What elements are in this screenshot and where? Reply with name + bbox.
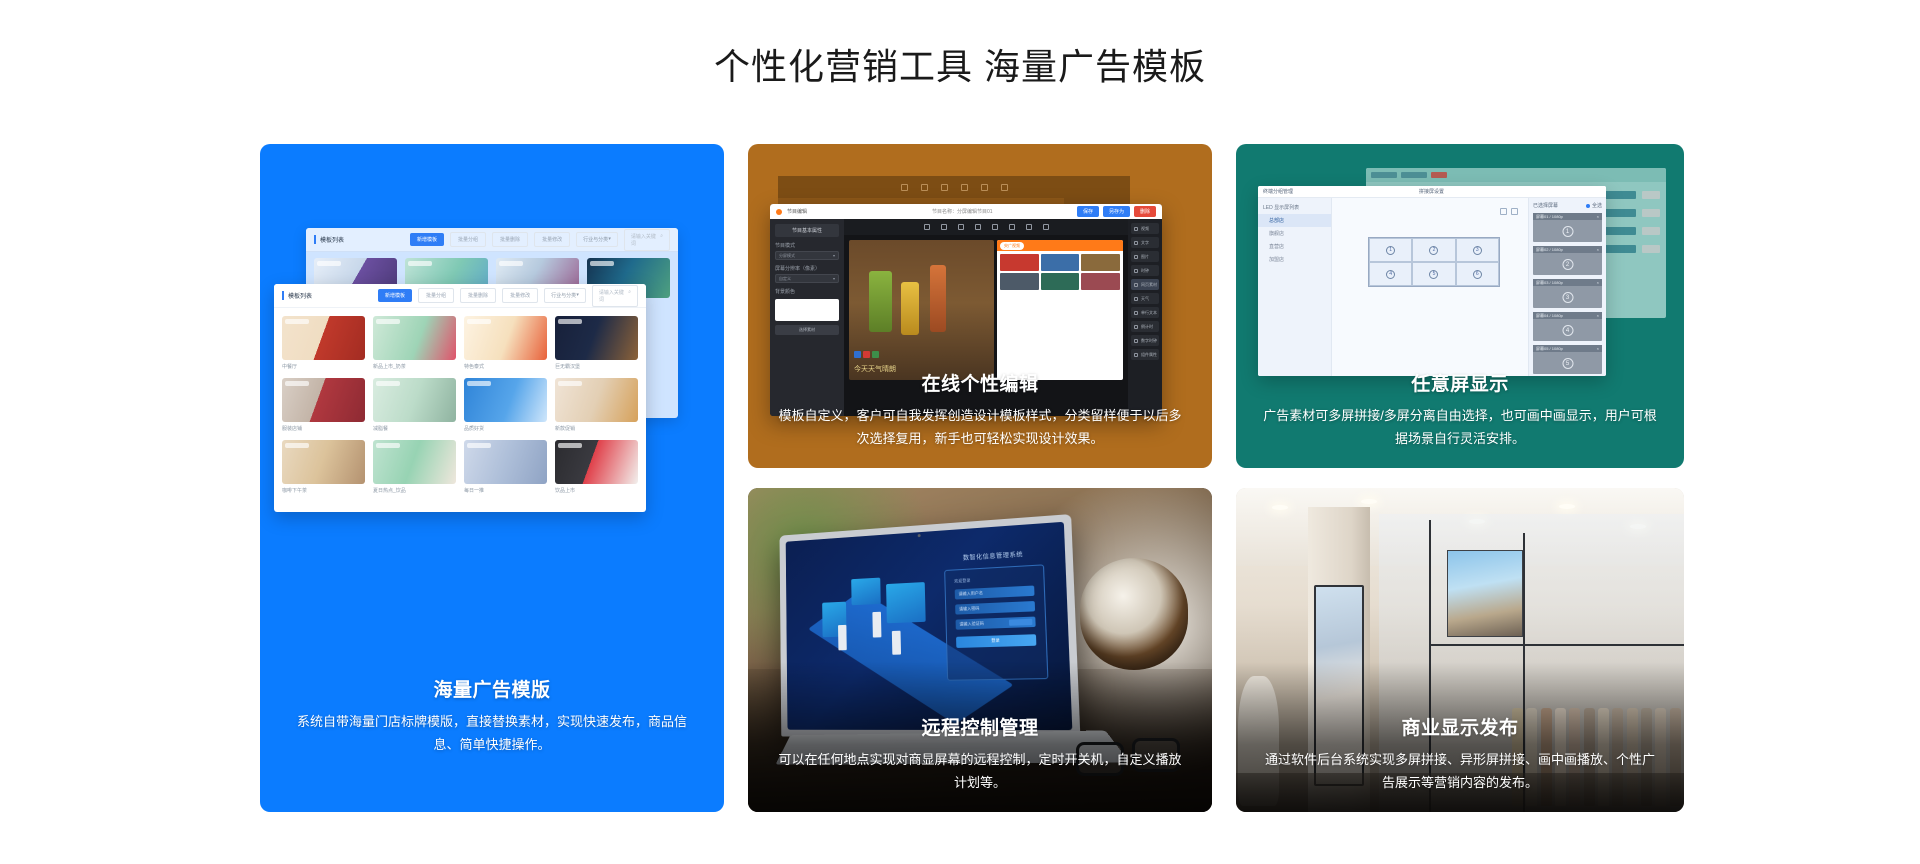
cell-number: 6 [1473, 270, 1482, 279]
template-caption: 特色泰式 [464, 363, 547, 370]
grid-icon[interactable] [1043, 224, 1049, 230]
field-label: 背景颜色 [775, 288, 839, 295]
template-caption: 新款促销 [555, 425, 638, 432]
image-icon [1134, 255, 1138, 259]
category-select-back[interactable]: 行业与分类▾ [576, 232, 618, 247]
app-name: 节目编辑 [787, 208, 807, 215]
card-mass-templates[interactable]: 模板列表 新增模板 批量分组 批量删除 批量修改 行业与分类▾ 请输入关键词⌕ [260, 144, 724, 812]
web-icon [1134, 283, 1138, 287]
template-thumb [555, 316, 638, 360]
card-caption-any-screen: 任意屏显示 广告素材可多屏拼接/多屏分离自由选择，也可画中画显示，用户可根据场景… [1236, 369, 1684, 450]
web-tile [1041, 273, 1080, 290]
template-gallery-front-panel: 模板列表 新增模板 批量分组 批量删除 批量修改 行业与分类▾ 请输入关键词⌕ … [274, 284, 646, 512]
clock-icon [1134, 269, 1138, 273]
weather-icon [1134, 297, 1138, 301]
card-title: 在线个性编辑 [748, 369, 1212, 396]
video-preview[interactable]: 今天天气晴朗 [849, 240, 994, 380]
template-thumb [555, 378, 638, 422]
screen-item[interactable]: 屏幕03 / 1080p×3 [1533, 279, 1602, 308]
chevron-down-icon: ▾ [833, 276, 835, 281]
selected-screens-panel: 已选择屏幕 全选 屏幕01 / 1080p×1 屏幕02 / 1080p×2 屏… [1528, 198, 1606, 376]
save-button[interactable]: 保存 [1077, 206, 1099, 217]
front-body: LED 显示屏列表 总部店 旗舰店 直营店 加盟店 1 2 [1258, 198, 1606, 376]
select-icon[interactable] [924, 224, 930, 230]
template-card[interactable]: 服装店铺 [282, 378, 365, 432]
template-thumb [555, 440, 638, 484]
card-desc: 广告素材可多屏拼接/多屏分离自由选择，也可画中画显示，用户可根据场景自行灵活安排… [1236, 405, 1684, 450]
search-icon: ⌕ [628, 289, 631, 303]
crop-icon [961, 184, 968, 191]
screen-item-bar: 屏幕03 / 1080p× [1533, 279, 1602, 286]
chevron-down-icon: ▾ [608, 236, 611, 243]
field-label: 屏幕分辨率（像素） [775, 265, 839, 272]
template-thumb [464, 316, 547, 360]
card-online-edit[interactable]: 视频 文字 图片 时钟 节目编辑 节目名称：分屏编辑节目01 保存 另存为 删除 [748, 144, 1212, 468]
card-caption-online-edit: 在线个性编辑 模板自定义，客户可自我发挥创造设计模板样式，分类留样便于以后多次选… [748, 369, 1212, 450]
gallery-toolbar-back: 模板列表 新增模板 批量分组 批量删除 批量修改 行业与分类▾ 请输入关键词⌕ [306, 228, 678, 252]
screen-layout-front-window: 终端分组管理 拼接屏设置 LED 显示屏列表 总部店 旗舰店 直营店 加盟店 [1258, 186, 1606, 376]
matrix-cell[interactable]: 1 [1369, 238, 1412, 262]
chevron-down-icon: ▾ [576, 292, 579, 299]
card-remote-control[interactable]: 数智化信息管理系统 欢迎登录 请输入用户名 请输入密码 请输入验证码 登录 [748, 488, 1212, 812]
card-desc: 系统自带海量门店标牌模版，直接替换素材，实现快速发布，商品信息、简单快捷操作。 [260, 711, 724, 756]
screen-item[interactable]: 屏幕01 / 1080p×1 [1533, 213, 1602, 242]
search-input-back[interactable]: 请输入关键词⌕ [624, 229, 670, 251]
star-icon [921, 184, 928, 191]
login-title: 数智化信息管理系统 [943, 548, 1043, 563]
card-title: 远程控制管理 [748, 713, 1212, 740]
template-thumb [373, 440, 456, 484]
screen-item[interactable]: 屏幕02 / 1080p×2 [1533, 246, 1602, 275]
gallery-title: 模板列表 [282, 291, 312, 300]
sidebar-item[interactable]: 加盟店 [1258, 253, 1331, 266]
iso-panel [886, 583, 926, 624]
star-icon[interactable] [941, 224, 947, 230]
iso-person [838, 625, 846, 650]
card-desc: 可以在任何地点实现对商显屏幕的远程控制，定时开关机，自定义播放计划等。 [748, 749, 1212, 794]
web-tile [1000, 273, 1039, 290]
radio-icon [1586, 204, 1590, 208]
close-icon[interactable]: × [1597, 346, 1599, 351]
page-title: 个性化营销工具 海量广告模板 [0, 0, 1920, 91]
screen-number: 3 [1562, 292, 1573, 303]
template-card[interactable]: 中餐厅 [282, 316, 365, 370]
close-icon[interactable]: × [1597, 313, 1599, 318]
template-thumb [373, 316, 456, 360]
template-caption: 品质好货 [464, 425, 547, 432]
template-caption: 服装店铺 [282, 425, 365, 432]
layers-icon [981, 184, 988, 191]
add-template-button[interactable]: 新增模板 [378, 289, 412, 302]
component-item: 倒计时 [1131, 321, 1159, 332]
feature-card-grid: 模板列表 新增模板 批量分组 批量删除 批量修改 行业与分类▾ 请输入关键词⌕ [260, 144, 1660, 812]
screen-item[interactable]: 屏幕04 / 1080p×4 [1533, 312, 1602, 341]
text-icon[interactable] [958, 224, 964, 230]
matrix-cell[interactable]: 2 [1412, 238, 1455, 262]
choose-material-button[interactable]: 选择素材 [775, 325, 839, 335]
sidebar-head: LED 显示屏列表 [1258, 201, 1331, 214]
search-icon: ⌕ [660, 233, 663, 247]
template-card[interactable]: 特色泰式 [464, 316, 547, 370]
matrix-cell[interactable]: 3 [1456, 238, 1499, 262]
template-caption: 饮品上市 [555, 487, 638, 494]
batch-delete-button-back[interactable]: 批量删除 [492, 232, 528, 247]
screen-item-bar: 屏幕05 / 1080p× [1533, 345, 1602, 352]
card-caption-remote-control: 远程控制管理 可以在任何地点实现对商显屏幕的远程控制，定时开关机，自定义播放计划… [748, 713, 1212, 794]
template-card[interactable]: 每日一推 [464, 440, 547, 494]
password-field[interactable]: 请输入密码 [955, 601, 1035, 615]
editor-action-buttons: 保存 另存为 删除 [1077, 206, 1156, 217]
template-card[interactable]: 巨无霸汉堡 [555, 316, 638, 370]
editor-stage: 今天天气晴朗 央广视频 [844, 235, 1128, 385]
scene-object [869, 271, 892, 333]
marketing-feature-page: 个性化营销工具 海量广告模板 模板列表 新增模板 批量分组 批量删除 批量修改 … [0, 0, 1920, 864]
screen-item-bar: 屏幕04 / 1080p× [1533, 312, 1602, 319]
search-input[interactable]: 请输入关键词⌕ [592, 285, 638, 307]
close-icon[interactable]: × [1597, 280, 1599, 285]
card-caption-commercial-display: 商业显示发布 通过软件后台系统实现多屏拼接、异形屏拼接、画中画播放、个性广告展示… [1236, 713, 1684, 794]
close-icon[interactable]: × [1597, 247, 1599, 252]
web-preview[interactable]: 央广视频 [997, 240, 1123, 380]
caption-pill [872, 351, 879, 358]
component-item: 网页素材 [1131, 279, 1159, 290]
field-label: 节目模式 [775, 242, 839, 249]
component-item: 图片 [1131, 251, 1159, 262]
web-tile [1081, 254, 1120, 271]
screen-matrix-area: 1 2 3 4 5 6 [1332, 198, 1528, 376]
template-card[interactable]: 咖啡下午茶 [282, 440, 365, 494]
frame-rail [1429, 644, 1684, 646]
screen-number: 2 [1562, 259, 1573, 270]
caption-pill [863, 351, 870, 358]
tool-icon [901, 184, 908, 191]
template-card[interactable]: 新品上市_奶茶 [373, 316, 456, 370]
template-card[interactable]: 夏日热点_饮品 [373, 440, 456, 494]
card-commercial-display[interactable]: 商业显示发布 通过软件后台系统实现多屏拼接、异形屏拼接、画中画播放、个性广告展示… [1236, 488, 1684, 812]
template-card[interactable]: 新款促销 [555, 378, 638, 432]
template-caption: 巨无霸汉堡 [555, 363, 638, 370]
chevron-down-icon: ▾ [833, 253, 835, 258]
properties-icon [1134, 353, 1138, 357]
template-thumb [282, 316, 365, 360]
card-desc: 通过软件后台系统实现多屏拼接、异形屏拼接、画中画播放、个性广告展示等营销内容的发… [1236, 749, 1684, 794]
close-icon[interactable]: × [1597, 214, 1599, 219]
caption-row [854, 351, 989, 358]
toolbar-chip [1401, 172, 1427, 178]
cell-number: 5 [1429, 270, 1438, 279]
card-title: 商业显示发布 [1236, 713, 1684, 740]
template-thumb [464, 378, 547, 422]
back-toolbar [1366, 168, 1666, 182]
sidebar-item[interactable]: 直营店 [1258, 240, 1331, 253]
form-label: 欢迎登录 [954, 574, 1034, 584]
template-caption: 新品上市_奶茶 [373, 363, 456, 370]
toolbar-chip [1371, 172, 1397, 178]
component-item: 视频 [1131, 223, 1159, 234]
cell-number: 4 [1386, 270, 1395, 279]
component-item: 单行文本 [1131, 307, 1159, 318]
component-item: 组件属性 [1131, 349, 1159, 360]
web-tile [1000, 254, 1039, 271]
gallery-grid: 中餐厅 新品上市_奶茶 特色泰式 巨无霸汉堡 服装店铺 减脂餐 品质好货 新款促… [274, 308, 646, 502]
panel-head: 已选择屏幕 全选 [1533, 202, 1602, 209]
cell-number: 1 [1386, 246, 1395, 255]
fullscreen-icon[interactable] [1500, 208, 1507, 215]
bar-title: 终端分组管理 [1263, 188, 1293, 195]
select-all-radio[interactable]: 全选 [1586, 202, 1602, 209]
screen-number: 5 [1562, 358, 1573, 369]
matrix-cell[interactable]: 4 [1369, 262, 1412, 286]
webcam-icon [918, 534, 921, 537]
component-item: 文字 [1131, 237, 1159, 248]
component-item: 时钟 [1131, 265, 1159, 276]
front-toolbar: 终端分组管理 拼接屏设置 [1258, 186, 1606, 198]
batch-edit-button[interactable]: 批量修改 [502, 288, 538, 303]
countdown-icon [1134, 325, 1138, 329]
screen-number: 1 [1562, 226, 1573, 237]
video-icon [1134, 227, 1138, 231]
sidebar-item[interactable]: 旗舰店 [1258, 227, 1331, 240]
editor-back-toolbar [778, 176, 1130, 198]
panel-title: 已选择屏幕 [1533, 202, 1558, 209]
screen-item-bar: 屏幕01 / 1080p× [1533, 213, 1602, 220]
iso-person [892, 631, 901, 655]
sidebar-item[interactable]: 总部店 [1258, 214, 1331, 227]
component-item: 天气 [1131, 293, 1159, 304]
template-thumb [282, 378, 365, 422]
gear-icon[interactable] [1026, 224, 1032, 230]
batch-delete-button[interactable]: 批量删除 [460, 288, 496, 303]
app-logo-icon [776, 209, 782, 215]
background-color-swatch[interactable] [775, 299, 839, 321]
canvas-toolbar [844, 219, 1128, 235]
template-card[interactable]: 饮品上市 [555, 440, 638, 494]
delete-button[interactable]: 删除 [1134, 206, 1156, 217]
template-caption: 夏日热点_饮品 [373, 487, 456, 494]
image-icon[interactable] [975, 224, 981, 230]
mode-select[interactable]: 分屏模式▾ [775, 251, 839, 260]
web-preview-header: 央广视频 [997, 240, 1123, 251]
component-item: 数字时钟 [1131, 335, 1159, 346]
web-tile [1081, 273, 1120, 290]
card-title: 海量广告模版 [260, 675, 724, 702]
panel-title: 节目基本属性 [775, 224, 839, 237]
tab-title: 拼接屏设置 [1419, 188, 1444, 195]
card-any-screen[interactable]: 终端分组管理 拼接屏设置 LED 显示屏列表 总部店 旗舰店 直营店 加盟店 [1236, 144, 1684, 468]
template-card[interactable]: 减脂餐 [373, 378, 456, 432]
screen-item-bar: 屏幕02 / 1080p× [1533, 246, 1602, 253]
card-title: 任意屏显示 [1236, 369, 1684, 396]
digital-banner-display [1447, 550, 1523, 637]
username-field[interactable]: 请输入用户名 [954, 585, 1034, 599]
cell-number: 3 [1473, 246, 1482, 255]
scene-object [930, 265, 946, 332]
digital-clock-icon [1134, 339, 1138, 343]
iso-panel [851, 577, 881, 605]
settings-icon [1001, 184, 1008, 191]
batch-edit-button-back[interactable]: 批量修改 [534, 232, 570, 247]
matrix-toolbar [1342, 208, 1518, 215]
add-template-button-back[interactable]: 新增模板 [410, 233, 444, 246]
template-caption: 减脂餐 [373, 425, 456, 432]
card-caption-templates: 海量广告模版 系统自带海量门店标牌模版，直接替换素材，实现快速发布，商品信息、简… [260, 675, 724, 756]
ceiling-light [1272, 505, 1288, 510]
image-icon [941, 184, 948, 191]
gallery-title-back: 模板列表 [314, 235, 344, 244]
web-tile [1041, 254, 1080, 271]
screen-sidebar: LED 显示屏列表 总部店 旗舰店 直营店 加盟店 [1258, 198, 1332, 376]
template-caption: 中餐厅 [282, 363, 365, 370]
scene-object [901, 282, 918, 335]
matrix-cell[interactable]: 6 [1456, 262, 1499, 286]
toolbar-chip-delete [1431, 172, 1447, 178]
ceiling-light [1361, 499, 1377, 504]
screen-number: 4 [1562, 325, 1573, 336]
save-as-button[interactable]: 另存为 [1103, 206, 1130, 217]
doc-title: 节目名称：分屏编辑节目01 [932, 208, 993, 215]
editor-topbar: 节目编辑 节目名称：分屏编辑节目01 保存 另存为 删除 [770, 204, 1162, 219]
coffee-cup [1080, 558, 1188, 670]
matrix-cell[interactable]: 5 [1412, 262, 1455, 286]
text-icon [1134, 241, 1138, 245]
cell-number: 2 [1429, 246, 1438, 255]
grid-icon[interactable] [1511, 208, 1518, 215]
template-thumb [373, 378, 456, 422]
shape-icon[interactable] [1009, 224, 1015, 230]
iso-person [873, 612, 882, 638]
card-desc: 模板自定义，客户可自我发挥创造设计模板样式，分类留样便于以后多次选择复用，新手也… [748, 405, 1212, 450]
batch-group-button-back[interactable]: 批量分组 [450, 232, 486, 247]
video-icon[interactable] [992, 224, 998, 230]
template-thumb [282, 440, 365, 484]
login-button[interactable]: 登录 [956, 634, 1037, 648]
single-text-icon [1134, 311, 1138, 315]
template-caption: 咖啡下午茶 [282, 487, 365, 494]
brand-name: 央广视频 [1000, 242, 1024, 250]
template-card[interactable]: 品质好货 [464, 378, 547, 432]
template-thumb [464, 440, 547, 484]
category-select[interactable]: 行业与分类▾ [544, 288, 586, 303]
web-preview-grid [997, 251, 1123, 293]
screen-matrix: 1 2 3 4 5 6 [1368, 237, 1500, 287]
batch-group-button[interactable]: 批量分组 [418, 288, 454, 303]
gallery-toolbar: 模板列表 新增模板 批量分组 批量删除 批量修改 行业与分类▾ 请输入关键词⌕ [274, 284, 646, 308]
ceiling-light [1559, 504, 1575, 509]
template-caption: 每日一推 [464, 487, 547, 494]
caption-pill [854, 351, 861, 358]
resolution-select[interactable]: 自定义▾ [775, 274, 839, 283]
captcha-field[interactable]: 请输入验证码 [955, 616, 1035, 629]
